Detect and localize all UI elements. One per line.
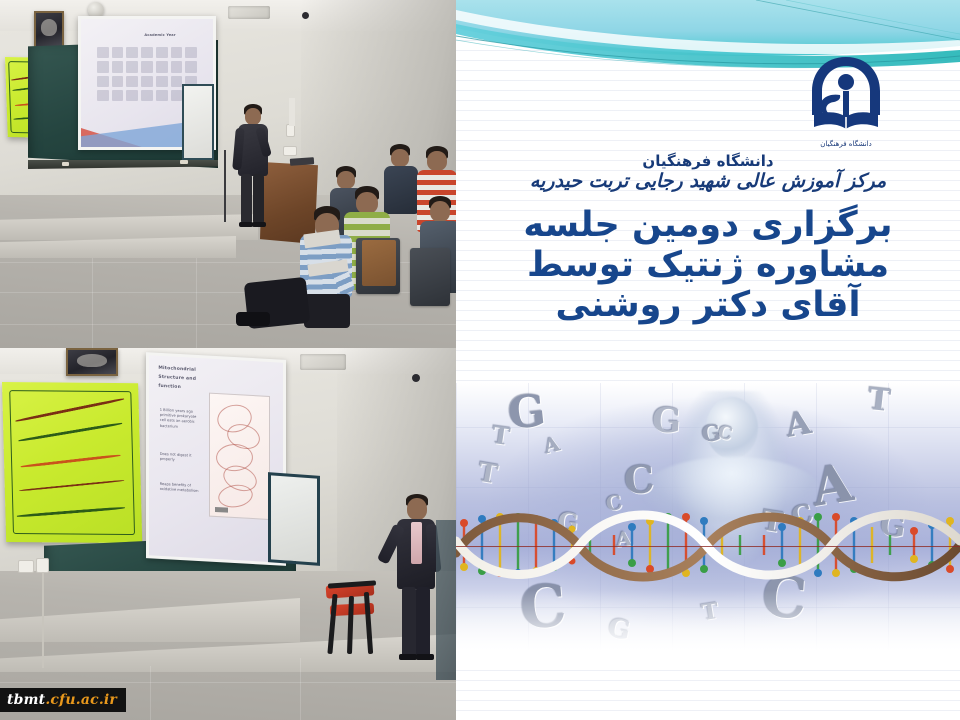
guide-line — [456, 546, 960, 547]
presenter-standing — [232, 104, 272, 228]
framed-portrait — [66, 348, 118, 376]
slide-title-line-2: Structure and — [158, 375, 196, 382]
door — [436, 520, 456, 680]
url-suffix: .cfu.ac.ir — [45, 692, 117, 708]
logo-mark-icon — [800, 55, 892, 137]
helix-svg — [456, 501, 960, 593]
poster-text-panel: دانشگاه فرهنگیان دانشگاه فرهنگیان مرکز آ… — [456, 0, 960, 720]
slide-title-line-3: function — [158, 384, 181, 390]
lecture-hall-photo-top: Academic Year — [0, 0, 456, 348]
nucleotide-letter: G — [505, 385, 548, 440]
framed-portrait — [34, 11, 64, 49]
slide-bullet-3: Reaps benefits of oxidative metabolism — [160, 482, 203, 495]
headline-line-1: برگزاری دومین جلسه — [456, 208, 960, 243]
projection-screen-bottom: Mitochondrial Structure and function 1 B… — [146, 352, 286, 566]
nucleotide-letter: G — [651, 400, 682, 441]
site-url-badge[interactable]: tbmt.cfu.ac.ir — [0, 688, 126, 712]
ceiling-camera-icon — [412, 374, 420, 382]
slide-title-line-1: Mitochondrial — [158, 366, 196, 373]
lecture-hall-photo-bottom: Mitochondrial Structure and function 1 B… — [0, 348, 456, 720]
nucleotide-letter: C — [622, 456, 655, 503]
url-prefix: tbmt — [7, 692, 45, 708]
headline-line-2: مشاوره ژنتیک توسط — [456, 248, 960, 283]
farhangian-university-logo: دانشگاه فرهنگیان — [800, 55, 892, 151]
photo-column: Academic Year — [0, 0, 456, 720]
nucleotide-letter: T — [866, 383, 892, 419]
logo-caption: دانشگاه فرهنگیان — [820, 140, 871, 148]
presenter-standing — [392, 494, 440, 664]
dna-illustration: G T A G G C A T C T A G C T A C G C G T … — [456, 383, 960, 668]
ceiling-camera-icon — [302, 12, 309, 19]
awareness-banner-bottom — [2, 382, 142, 543]
nucleotide-letter: T — [490, 420, 512, 451]
org-name-line: دانشگاه فرهنگیان — [456, 152, 960, 170]
org-center-line: مرکز آموزش عالی شهید رجایی تربت حیدریه — [456, 170, 960, 192]
slide-bullet-2: Does not digest it properly — [160, 452, 203, 465]
slide-bullet-1: 1 Billion years ago primitive prokaryote… — [160, 408, 203, 431]
poster-root: Academic Year — [0, 0, 960, 720]
headline-line-3: آقای دکتر روشنی — [456, 288, 960, 323]
mitochondrion-diagram — [209, 393, 269, 520]
